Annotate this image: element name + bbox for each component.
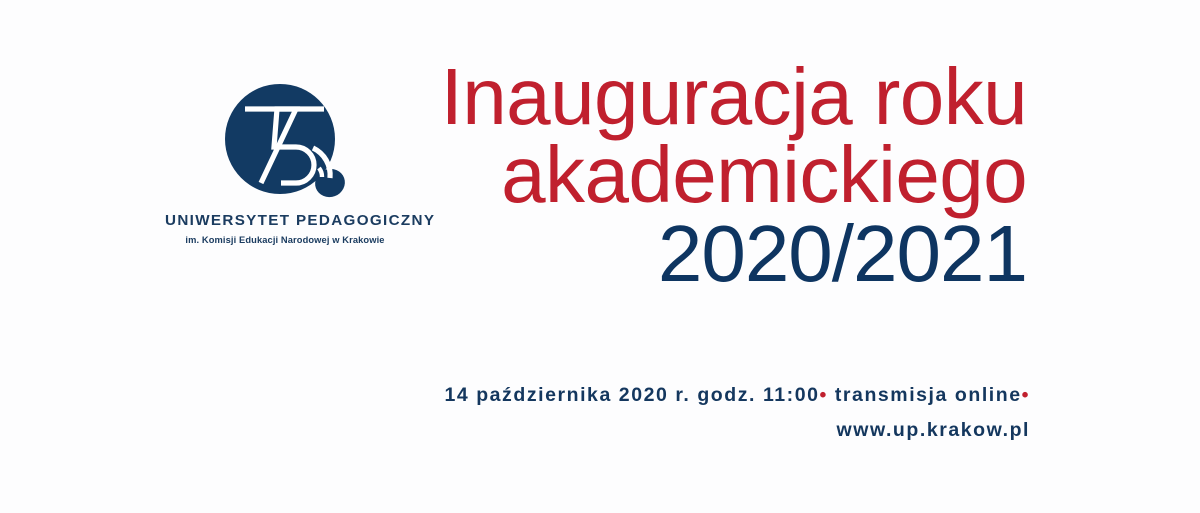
university-logo: UNIWERSYTET PEDAGOGICZNY im. Komisji Edu… (165, 82, 405, 245)
event-datetime-line: 14 października 2020 r. godz. 11:00• tra… (444, 378, 1030, 413)
separator-bullet-2: • (1022, 384, 1030, 406)
logo-university-subtitle: im. Komisji Edukacji Narodowej w Krakowi… (165, 235, 405, 245)
event-title: Inauguracja roku akademickiego 2020/2021 (441, 58, 1027, 293)
event-website-line[interactable]: www.up.krakow.pl (444, 413, 1030, 448)
event-date-time: 14 października 2020 r. godz. 11:00 (444, 384, 819, 406)
event-title-academic-year: 2020/2021 (441, 215, 1027, 293)
event-details: 14 października 2020 r. godz. 11:00• tra… (444, 378, 1030, 447)
separator-bullet-1: • (820, 384, 828, 406)
event-broadcast-label: transmisja online (835, 384, 1022, 406)
event-title-line-1: Inauguracja roku (441, 58, 1027, 136)
anniversary-75-emblem-icon (218, 82, 353, 207)
event-title-line-2: akademickiego (441, 136, 1027, 214)
logo-university-name: UNIWERSYTET PEDAGOGICZNY (165, 213, 405, 230)
poster-canvas: UNIWERSYTET PEDAGOGICZNY im. Komisji Edu… (0, 0, 1200, 513)
event-website-url[interactable]: www.up.krakow.pl (837, 419, 1030, 441)
